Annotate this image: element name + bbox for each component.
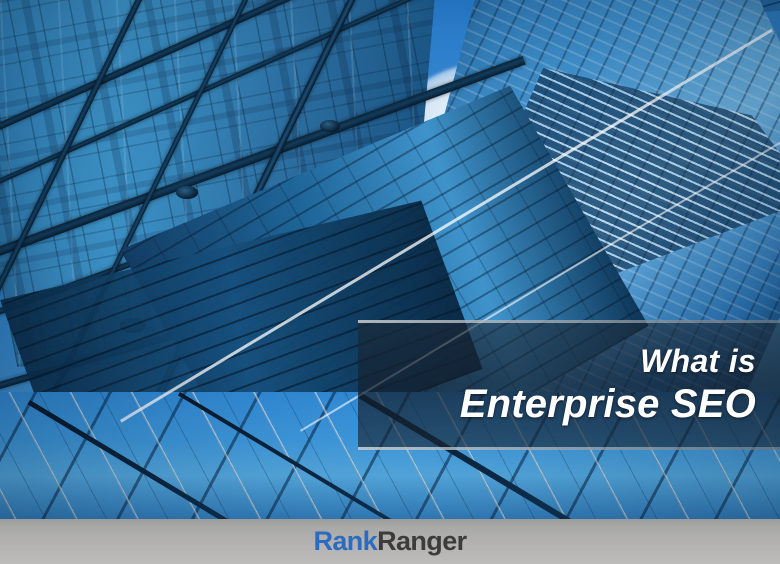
- rankranger-logo[interactable]: RankRanger: [313, 528, 466, 555]
- title-line-1: What is: [358, 345, 756, 379]
- logo-text-ranger: Ranger: [377, 526, 466, 556]
- title-line-2: Enterprise SEO: [358, 383, 756, 425]
- title-overlay-band: What is Enterprise SEO: [358, 320, 780, 450]
- footer-bar: RankRanger: [0, 519, 780, 564]
- article-header-banner: What is Enterprise SEO RankRanger: [0, 0, 780, 564]
- logo-text-rank: Rank: [313, 526, 377, 556]
